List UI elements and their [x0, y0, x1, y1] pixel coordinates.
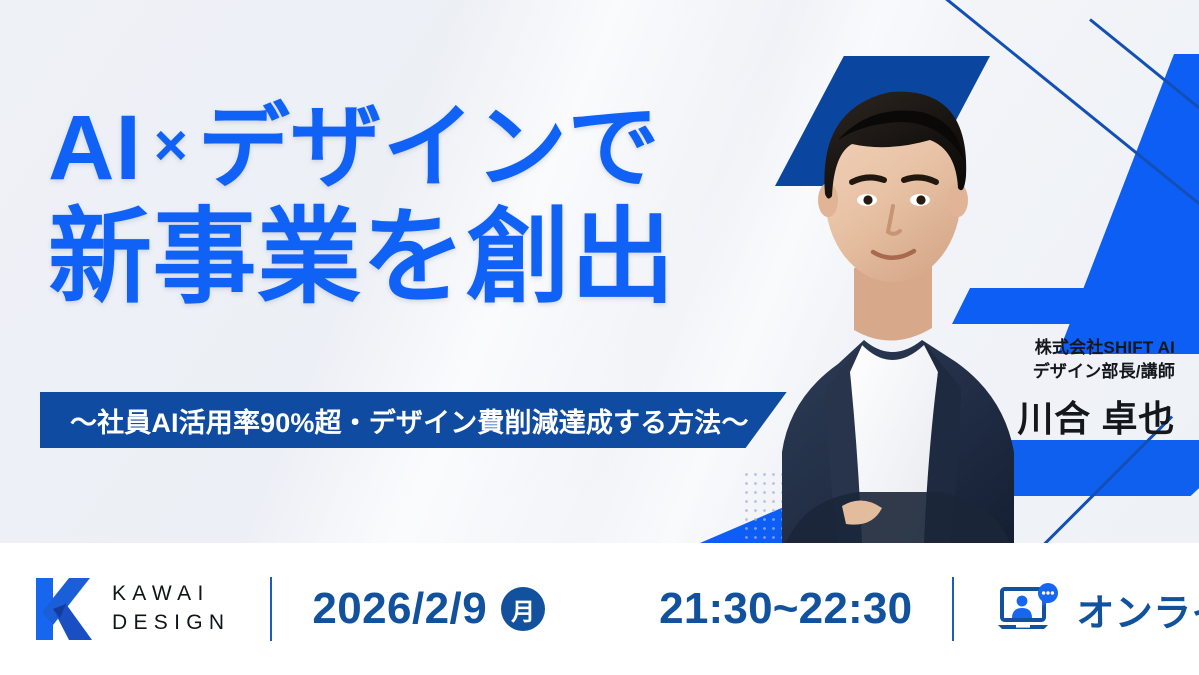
event-format: オンライン — [998, 582, 1199, 637]
headline-design-text: デザインで — [198, 97, 660, 199]
speaker-photo — [742, 0, 1042, 543]
brand-wordmark: KAWAI DESIGN — [112, 580, 230, 638]
blue-wedge-top-right-shape — [1058, 54, 1199, 354]
k-monogram-icon — [36, 576, 94, 642]
hero-section: AI×デザインで 新事業を創出 〜社員AI活用率90%超・デザイン費削減達成する… — [0, 0, 1199, 543]
day-of-week-badge: 月 — [501, 587, 545, 631]
headline-ai-text: AI — [48, 97, 142, 199]
speaker-info: 株式会社SHIFT AI デザイン部長/講師 川合 卓也 — [1017, 336, 1175, 442]
diagonal-line-right — [1089, 18, 1199, 348]
headline-line-1: AI×デザインで — [48, 102, 675, 194]
event-date-text: 2026/2/9 — [312, 584, 487, 634]
brand-name-line-1: KAWAI — [112, 580, 230, 609]
online-label: オンライン — [1076, 582, 1199, 637]
laptop-online-icon — [998, 583, 1060, 635]
headline: AI×デザインで 新事業を創出 — [48, 102, 675, 310]
speaker-name: 川合 卓也 — [1017, 390, 1175, 442]
footer-spacer — [585, 577, 619, 641]
seminar-banner: AI×デザインで 新事業を創出 〜社員AI活用率90%超・デザイン費削減達成する… — [0, 0, 1199, 675]
footer-bar: KAWAI DESIGN 2026/2/9 月 21:30~22:30 — [0, 543, 1199, 675]
speaker-role: デザイン部長/講師 — [1017, 360, 1175, 384]
brand-name-line-2: DESIGN — [112, 609, 230, 638]
event-date: 2026/2/9 月 — [312, 584, 545, 634]
footer-divider-1 — [270, 577, 272, 641]
event-time-text: 21:30~22:30 — [659, 584, 912, 634]
headline-line-2: 新事業を創出 — [48, 206, 675, 310]
subtitle-ribbon: 〜社員AI活用率90%超・デザイン費削減達成する方法〜 — [40, 392, 787, 448]
subtitle-text: 〜社員AI活用率90%超・デザイン費削減達成する方法〜 — [70, 401, 749, 440]
footer-divider-2 — [952, 577, 954, 641]
multiply-symbol: × — [154, 113, 188, 178]
brand-logo[interactable]: KAWAI DESIGN — [36, 576, 230, 642]
speaker-organization: 株式会社SHIFT AI — [1017, 336, 1175, 360]
